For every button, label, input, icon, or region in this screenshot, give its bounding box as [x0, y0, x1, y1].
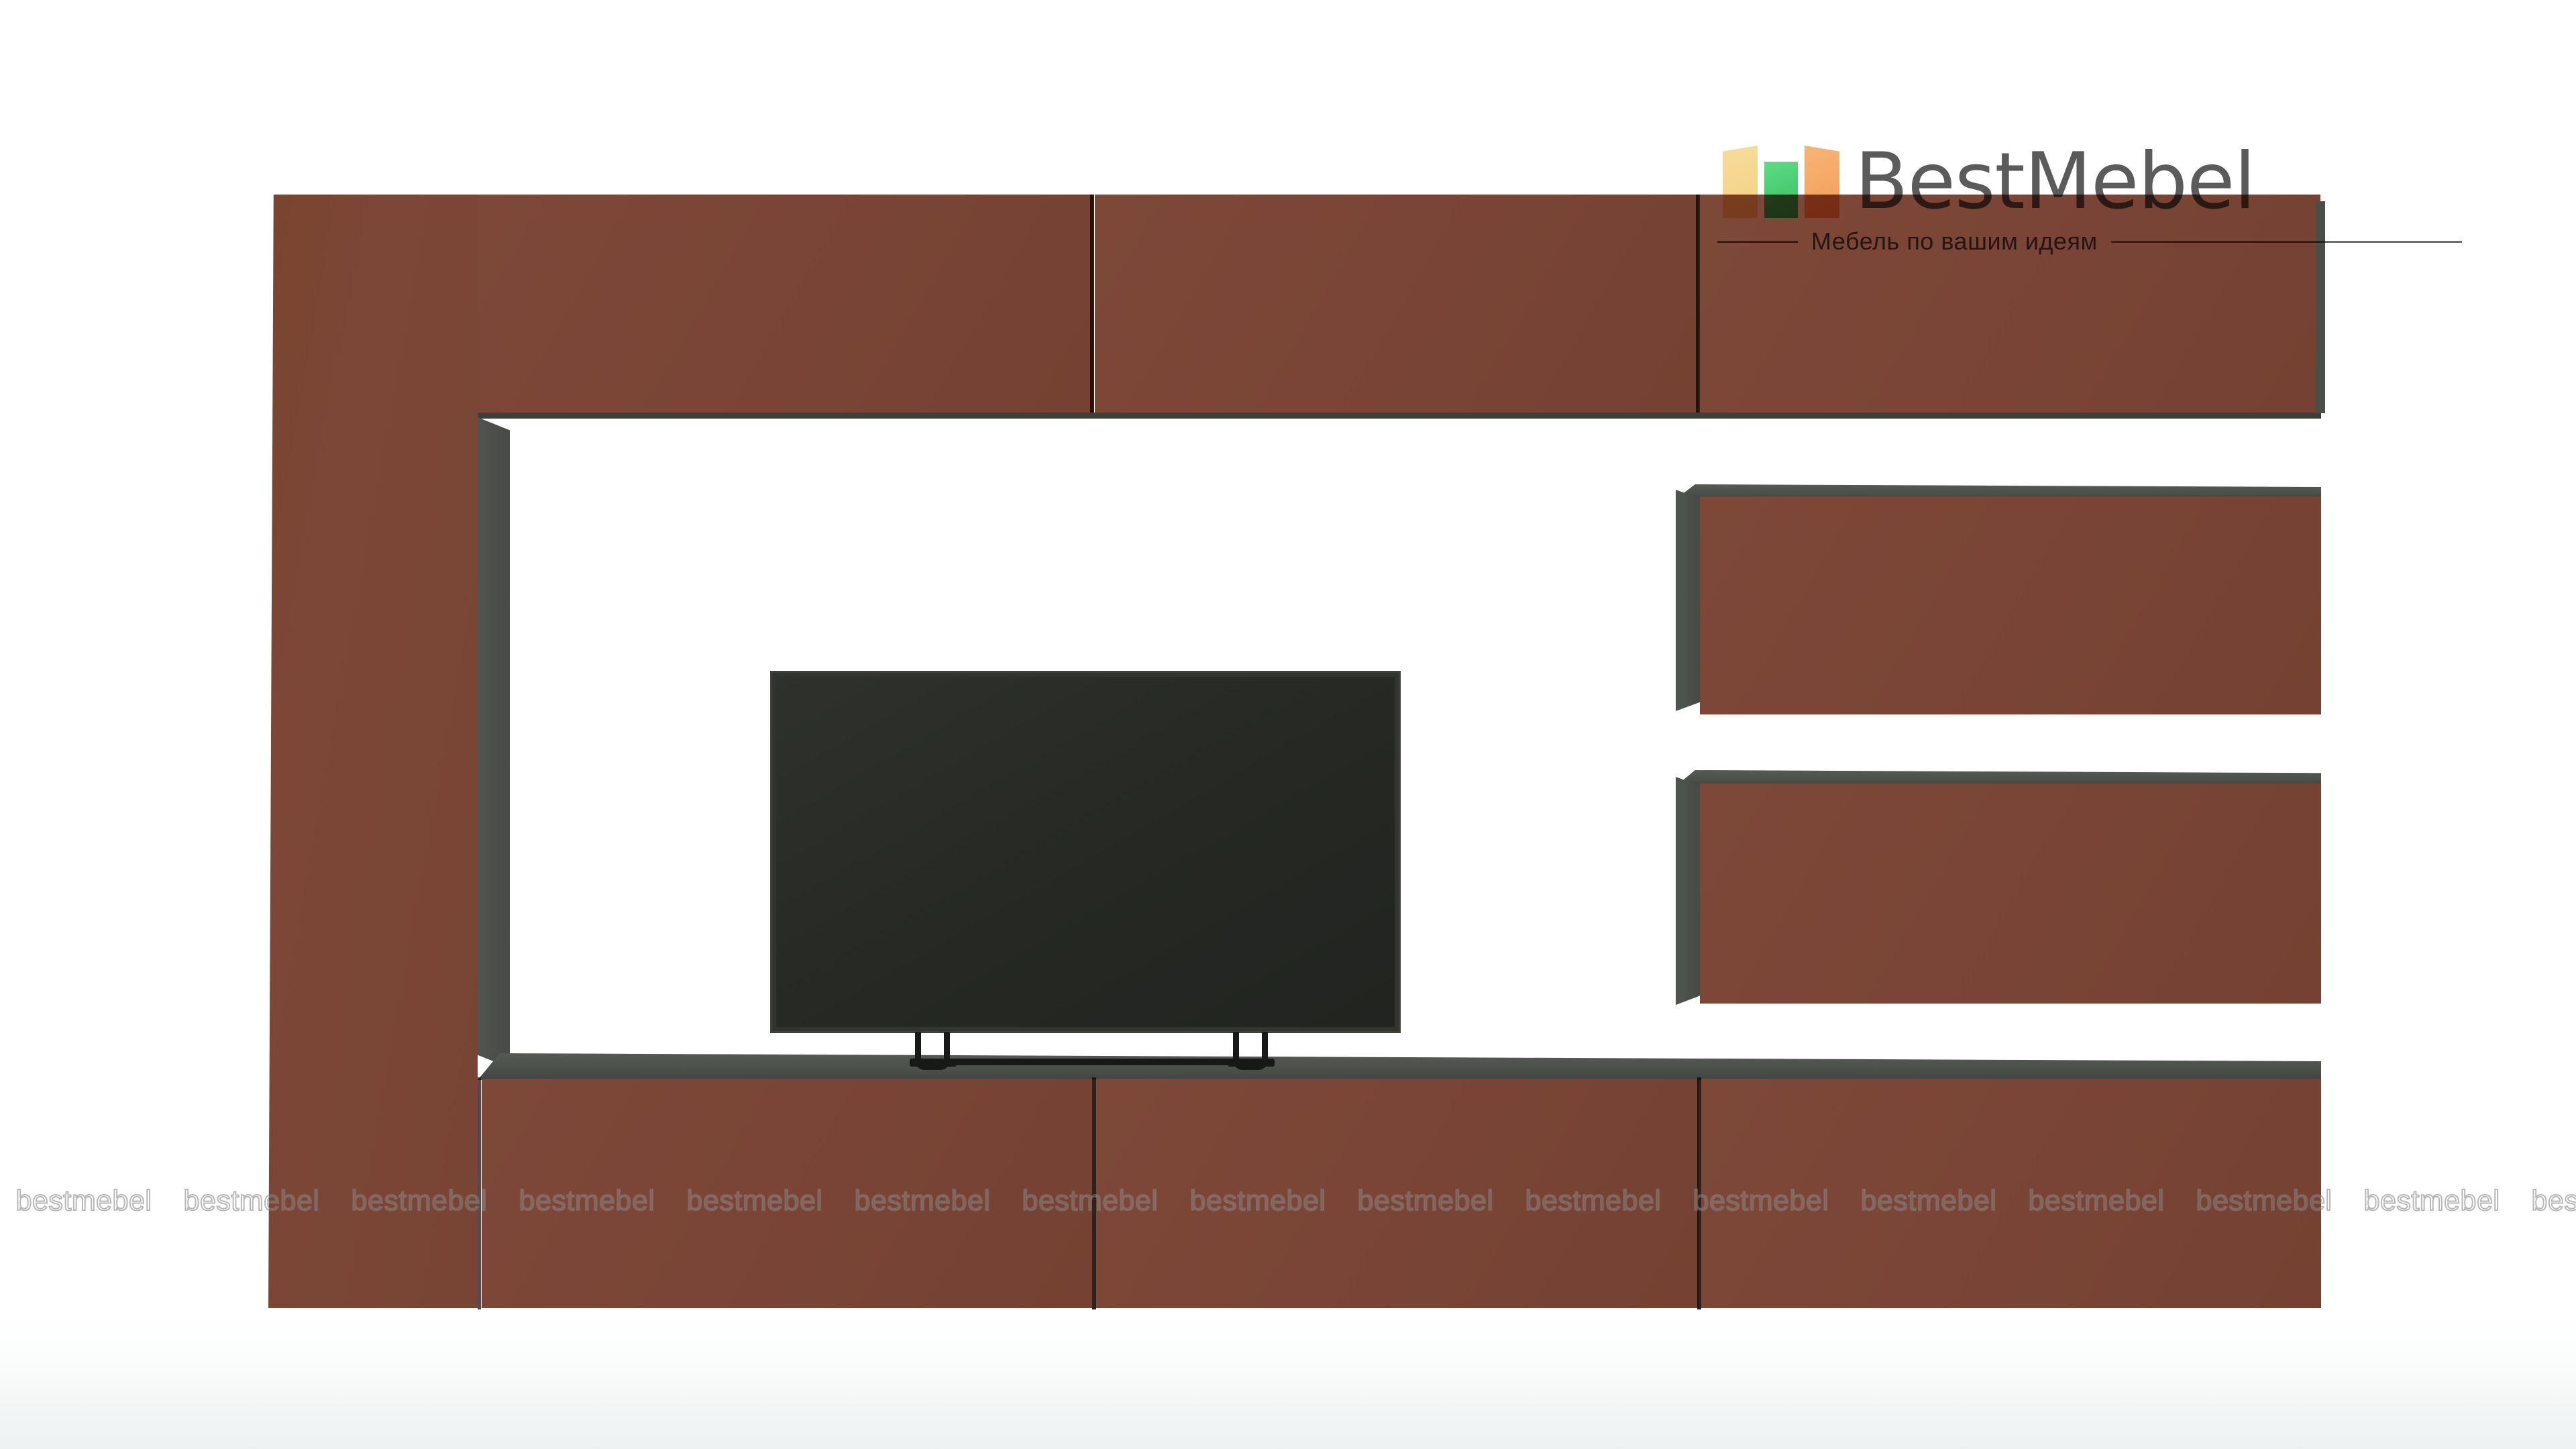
bottom-cabinet-3 — [1701, 1079, 2321, 1308]
bottom-seam-1 — [1092, 1077, 1096, 1309]
watermark-text: bestmebel — [0, 1185, 168, 1218]
top-seam-1 — [1090, 195, 1094, 413]
bottom-unit-top-surface — [478, 1053, 2321, 1080]
watermark-text: bestmebel — [2348, 1185, 2516, 1218]
lower-shelf-front — [1700, 784, 2321, 1004]
tv-stand-bar — [938, 1059, 1233, 1065]
top-row-right-return — [2316, 201, 2325, 413]
television — [770, 671, 1401, 1033]
top-seam-2 — [1696, 195, 1700, 413]
top-row-bottom-edge — [476, 413, 2321, 419]
lower-shelf-left-side — [1676, 777, 1700, 1005]
left-column-inner-side — [478, 417, 510, 1068]
bottom-left-column-seam — [478, 1077, 481, 1309]
floor-backdrop — [0, 1315, 2576, 1449]
left-tall-column — [268, 195, 478, 1308]
upper-shelf-front — [1700, 496, 2321, 714]
top-cabinet-3 — [1700, 195, 2320, 413]
top-cabinet-1 — [476, 195, 1093, 413]
top-cabinet-2 — [1095, 195, 1699, 413]
tv-foot-right — [1228, 1059, 1275, 1067]
watermark-text: bestmebel — [2516, 1185, 2576, 1218]
upper-shelf-left-side — [1676, 490, 1700, 711]
bottom-cabinet-1 — [482, 1079, 1092, 1308]
bottom-cabinet-2 — [1096, 1079, 1699, 1308]
product-render-scene: bestmebel bestmebel bestmebel bestmebel … — [0, 0, 2576, 1449]
tv-screen — [776, 677, 1395, 1027]
bottom-seam-2 — [1697, 1077, 1701, 1309]
